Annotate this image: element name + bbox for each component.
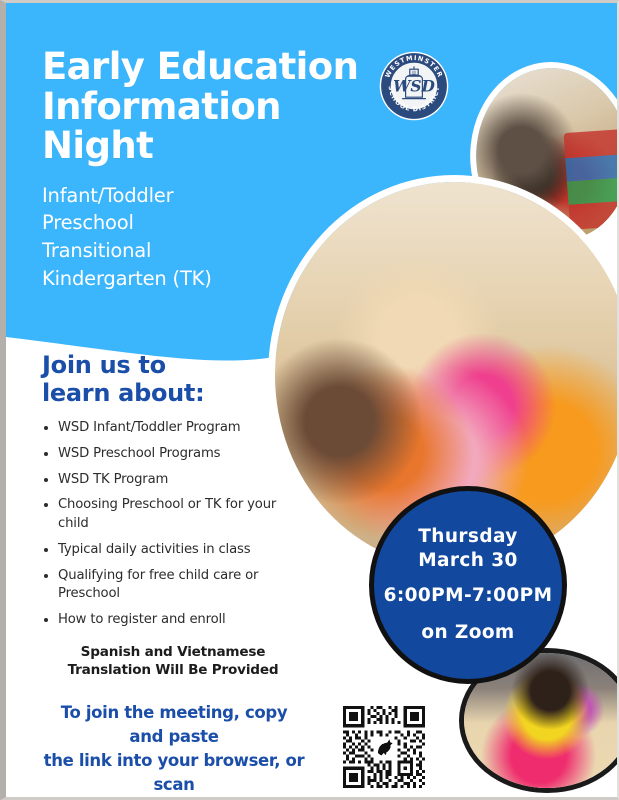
body-content-column: Join us to learn about: WSD Infant/Toddl… <box>42 351 310 797</box>
translation-line-2: Translation Will Be Provided <box>68 662 279 678</box>
list-item: How to register and enroll <box>42 611 310 630</box>
join-instructions-line-1: To join the meeting, copy and paste <box>61 703 287 746</box>
event-details-circle: Thursday March 30 6:00PM-7:00PM on Zoom <box>369 486 567 684</box>
translation-line-1: Spanish and Vietnamese <box>81 644 266 660</box>
title-line-3: Night <box>42 124 153 167</box>
header-text-block: Early Education Information Night Infant… <box>42 47 372 292</box>
subtitle-line-4: Kindergarten (TK) <box>42 267 212 290</box>
list-item: WSD Infant/Toddler Program <box>42 419 310 438</box>
page-subtitle: Infant/Toddler Preschool Transitional Ki… <box>42 182 372 293</box>
list-item: WSD TK Program <box>42 471 310 490</box>
event-date: March 30 <box>418 550 518 573</box>
topics-bullet-list: WSD Infant/Toddler Program WSD Preschool… <box>42 419 310 630</box>
list-item: Qualifying for free child care or Presch… <box>42 567 310 604</box>
list-item: Typical daily activities in class <box>42 541 310 560</box>
event-platform: on Zoom <box>421 622 514 645</box>
list-item: Choosing Preschool or TK for your child <box>42 496 310 533</box>
subtitle-line-2: Preschool <box>42 211 134 234</box>
join-us-heading: Join us to learn about: <box>42 351 310 407</box>
qr-center-bird-icon <box>373 736 394 757</box>
event-day: Thursday <box>418 526 518 549</box>
join-instructions-line-2: the link into your browser, or scan <box>44 751 305 794</box>
flyer-page: Early Education Information Night Infant… <box>0 0 619 800</box>
subtitle-line-3: Transitional <box>42 239 151 262</box>
westminster-school-district-seal-icon: WSD WESTMINSTER SCHOOL DISTRICT <box>379 51 449 121</box>
flyer-canvas: Early Education Information Night Infant… <box>6 3 617 797</box>
subtitle-line-1: Infant/Toddler <box>42 184 173 207</box>
page-title: Early Education Information Night <box>42 47 372 166</box>
event-time: 6:00PM-7:00PM <box>384 585 553 608</box>
qr-code-icon[interactable] <box>340 703 428 791</box>
translation-notice: Spanish and Vietnamese Translation Will … <box>42 643 310 679</box>
seal-monogram: WSD <box>393 78 435 96</box>
join-heading-line-2: learn about: <box>42 379 204 407</box>
join-instructions: To join the meeting, copy and paste the … <box>42 701 310 797</box>
list-item: WSD Preschool Programs <box>42 445 310 464</box>
join-heading-line-1: Join us to <box>42 351 166 379</box>
title-line-2: Information <box>42 85 281 128</box>
title-line-1: Early Education <box>42 45 358 88</box>
